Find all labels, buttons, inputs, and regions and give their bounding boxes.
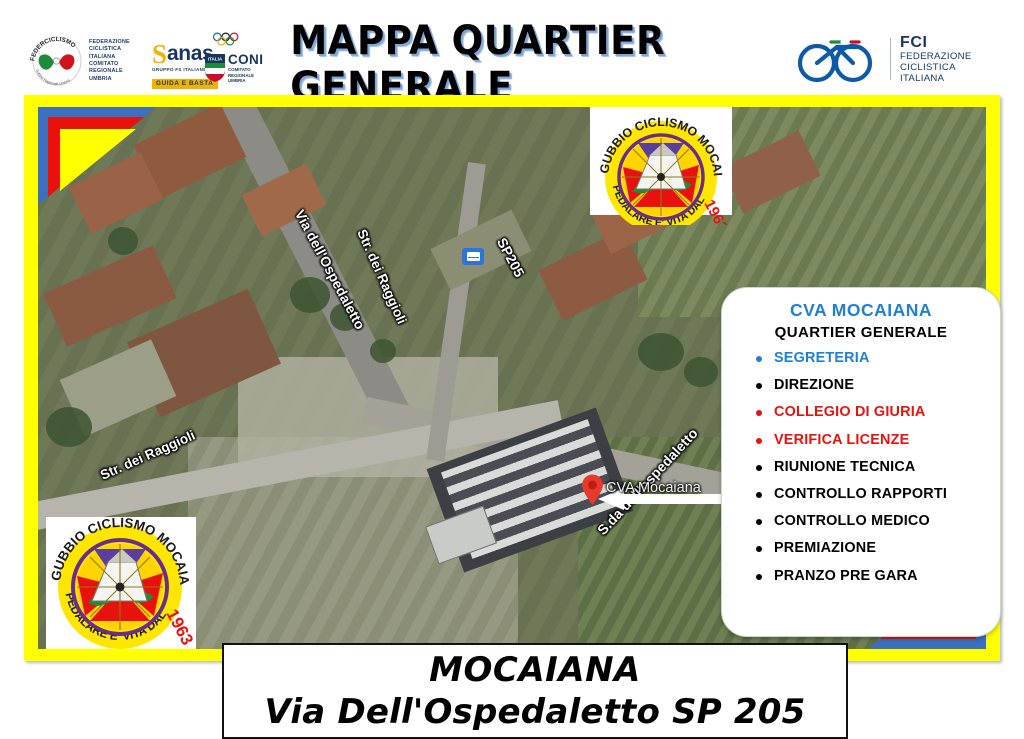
- italia-shield-icon: ITALIA: [205, 54, 225, 82]
- federciclismo-logo-text: FEDERAZIONE CICLISTICA ITALIANA Comitato…: [89, 39, 130, 83]
- list-item-label: VERIFICA LICENZE: [774, 432, 909, 448]
- info-panel-subtitle: QUARTIER GENERALE: [722, 324, 1000, 341]
- list-item-label: CONTROLLO MEDICO: [774, 513, 930, 529]
- bus-stop-icon[interactable]: [462, 248, 484, 265]
- list-item[interactable]: CONTROLLO RAPPORTI: [756, 487, 1000, 502]
- list-item-label: PRANZO PRE GARA: [774, 568, 918, 584]
- map-pin-icon[interactable]: [581, 474, 604, 505]
- club-badge-bottom: GUBBIO CICLISMO MOCAIANA PEDALARE E' VIT…: [46, 517, 196, 649]
- list-item-label: DIREZIONE: [774, 377, 854, 393]
- page-title: MAPPA QUARTIER GENERALE: [272, 36, 792, 92]
- caption-line-2: Via Dell'Ospedaletto SP 205: [265, 692, 806, 732]
- list-item[interactable]: RIUNIONE TECNICA: [756, 460, 1000, 475]
- coni-line-3: UMBRIA: [228, 78, 263, 84]
- info-panel-list: SEGRETERIA DIREZIONE COLLEGIO DI GIURIA …: [722, 351, 1000, 584]
- club-badge-top: GUBBIO CICLISMO MOCAIANA PEDALARE E' VIT…: [590, 107, 732, 215]
- info-panel-title: CVA MOCAIANA: [722, 300, 1000, 321]
- coni-name: CONI: [228, 52, 263, 67]
- list-item[interactable]: PRANZO PRE GARA: [756, 569, 1000, 584]
- list-item-label: PREMIAZIONE: [774, 540, 876, 556]
- federciclismo-umbria-logo: FEDERCICLISMO Gubbio Ragionale Umbria FE…: [28, 30, 150, 92]
- svg-text:1963: 1963: [162, 606, 196, 648]
- svg-text:ITALIA: ITALIA: [208, 56, 223, 61]
- list-item-label: SEGRETERIA: [774, 350, 870, 366]
- list-item-label: COLLEGIO DI GIURIA: [774, 404, 926, 420]
- logo-divider: [890, 38, 891, 80]
- list-item[interactable]: DIREZIONE: [756, 378, 1000, 393]
- caption-line-1: MOCAIANA: [429, 650, 641, 690]
- fci-national-logo: FCI FEDERAZIONE CICLISTICA ITALIANA: [795, 28, 995, 90]
- fci-line-4: Comitato: [89, 61, 130, 68]
- fci-nat-line-3: ITALIANA: [900, 73, 972, 84]
- info-panel: CVA MOCAIANA QUARTIER GENERALE SEGRETERI…: [721, 287, 1001, 637]
- fci-line-5: Regionale: [89, 68, 130, 75]
- fci-national-text: FCI FEDERAZIONE CICLISTICA ITALIANA: [900, 34, 972, 85]
- fci-line-1: FEDERAZIONE: [89, 39, 130, 46]
- list-item-label: CONTROLLO RAPPORTI: [774, 486, 947, 502]
- federciclismo-emblem-icon: FEDERCICLISMO Gubbio Ragionale Umbria: [28, 32, 86, 90]
- list-item[interactable]: SEGRETERIA: [756, 351, 1000, 366]
- fci-nat-line-2: CICLISTICA: [900, 62, 972, 73]
- map-marker-label: CVA Mocaiana: [606, 480, 701, 496]
- list-item[interactable]: PREMIAZIONE: [756, 541, 1000, 556]
- corner-decoration-top-left: [38, 107, 156, 205]
- list-item[interactable]: CONTROLLO MEDICO: [756, 514, 1000, 529]
- fci-bicycle-icon: [795, 33, 881, 85]
- fci-line-3: ITALIANA: [89, 54, 130, 61]
- fci-line-6: Umbria: [89, 76, 130, 83]
- anas-s-icon: S: [152, 42, 167, 66]
- list-item-label: RIUNIONE TECNICA: [774, 459, 916, 475]
- list-item[interactable]: VERIFICA LICENZE: [756, 433, 1000, 448]
- olympic-rings-icon: [211, 32, 253, 46]
- list-item[interactable]: COLLEGIO DI GIURIA: [756, 405, 1000, 420]
- fci-nat-line-1: FEDERAZIONE: [900, 51, 972, 62]
- coni-subtitle: COMITATO REGIONALE UMBRIA: [228, 67, 263, 84]
- map-frame: Via dell'Ospedaletto Str. dei Raggioli S…: [24, 95, 1000, 661]
- page-header: FEDERCICLISMO Gubbio Ragionale Umbria FE…: [0, 0, 1024, 95]
- fci-abbr: FCI: [900, 34, 972, 51]
- fci-line-2: CICLISTICA: [89, 46, 130, 53]
- location-caption: MOCAIANA Via Dell'Ospedaletto SP 205: [222, 643, 848, 739]
